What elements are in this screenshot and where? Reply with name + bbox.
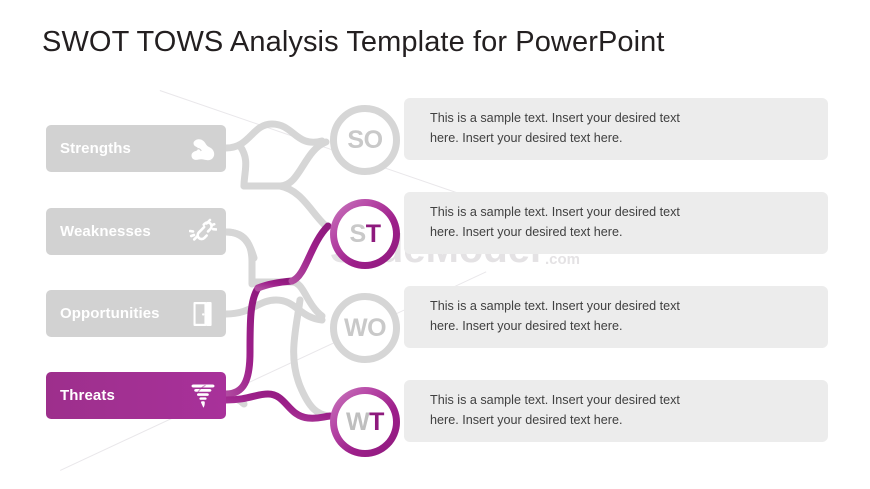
tows-circle-wt[interactable]: WT <box>330 387 400 457</box>
bicep-icon <box>188 134 218 164</box>
link-threats-stub <box>226 398 244 404</box>
tows-letter-second: O <box>364 126 383 154</box>
tows-letter-first: W <box>346 408 369 436</box>
swot-item-weaknesses[interactable]: Weaknesses <box>46 208 226 255</box>
swot-item-threats[interactable]: Threats <box>46 372 226 419</box>
swot-item-strengths[interactable]: Strengths <box>46 125 226 172</box>
tows-circle-st[interactable]: ST <box>330 199 400 269</box>
swot-item-label: Opportunities <box>60 305 188 322</box>
tows-circle-wo[interactable]: WO <box>330 293 400 363</box>
swot-item-label: Weaknesses <box>60 223 188 240</box>
tows-letter-first: W <box>344 314 367 342</box>
tows-text-panel-wt[interactable]: This is a sample text. Insert your desir… <box>404 380 828 442</box>
page-title: SWOT TOWS Analysis Template for PowerPoi… <box>42 26 665 59</box>
tows-letter-first: S <box>347 126 363 154</box>
link-junction-wo <box>292 282 322 316</box>
tows-letter-second: T <box>369 408 384 436</box>
link-threats-junction <box>258 281 292 288</box>
panel-copy: This is a sample text. Insert your desir… <box>430 297 698 336</box>
tows-circle-label: SO <box>347 128 382 153</box>
grey-connector-group <box>226 124 328 416</box>
tows-circle-label: WT <box>346 410 384 435</box>
link-threats-wt <box>226 394 330 418</box>
tows-letter-first: S <box>350 220 366 248</box>
panel-copy: This is a sample text. Insert your desir… <box>430 391 698 430</box>
slide-canvas: SWOT TOWS Analysis Template for PowerPoi… <box>0 0 870 489</box>
tows-letter-second: T <box>366 220 381 248</box>
link-threats-trunk <box>226 288 258 394</box>
link-weaknesses-trunk <box>226 232 252 262</box>
tows-circle-label: WO <box>344 316 386 341</box>
swot-item-label: Threats <box>60 387 188 404</box>
link-junction-so <box>280 142 326 186</box>
swot-item-label: Strengths <box>60 140 188 157</box>
link-wo-wt <box>294 300 328 416</box>
open-door-icon <box>188 299 218 329</box>
tows-text-panel-st[interactable]: This is a sample text. Insert your desir… <box>404 192 828 254</box>
swot-item-opportunities[interactable]: Opportunities <box>46 290 226 337</box>
purple-connector-group <box>226 226 330 418</box>
tows-letter-second: O <box>367 314 386 342</box>
link-strengths-trunk <box>240 146 246 186</box>
tows-circle-label: ST <box>350 222 381 247</box>
broken-chain-icon <box>188 217 218 247</box>
link-strengths-so <box>226 124 322 148</box>
panel-copy: This is a sample text. Insert your desir… <box>430 109 698 148</box>
link-opportunities-wo <box>226 300 322 320</box>
tows-text-panel-so[interactable]: This is a sample text. Insert your desir… <box>404 98 828 160</box>
tornado-icon <box>188 381 218 411</box>
tows-text-panel-wo[interactable]: This is a sample text. Insert your desir… <box>404 286 828 348</box>
panel-copy: This is a sample text. Insert your desir… <box>430 203 698 242</box>
link-junction-st-grey <box>280 186 326 226</box>
link-weaknesses-trunk-b <box>226 232 254 258</box>
tows-circle-so[interactable]: SO <box>330 105 400 175</box>
link-junction-st <box>292 226 328 281</box>
